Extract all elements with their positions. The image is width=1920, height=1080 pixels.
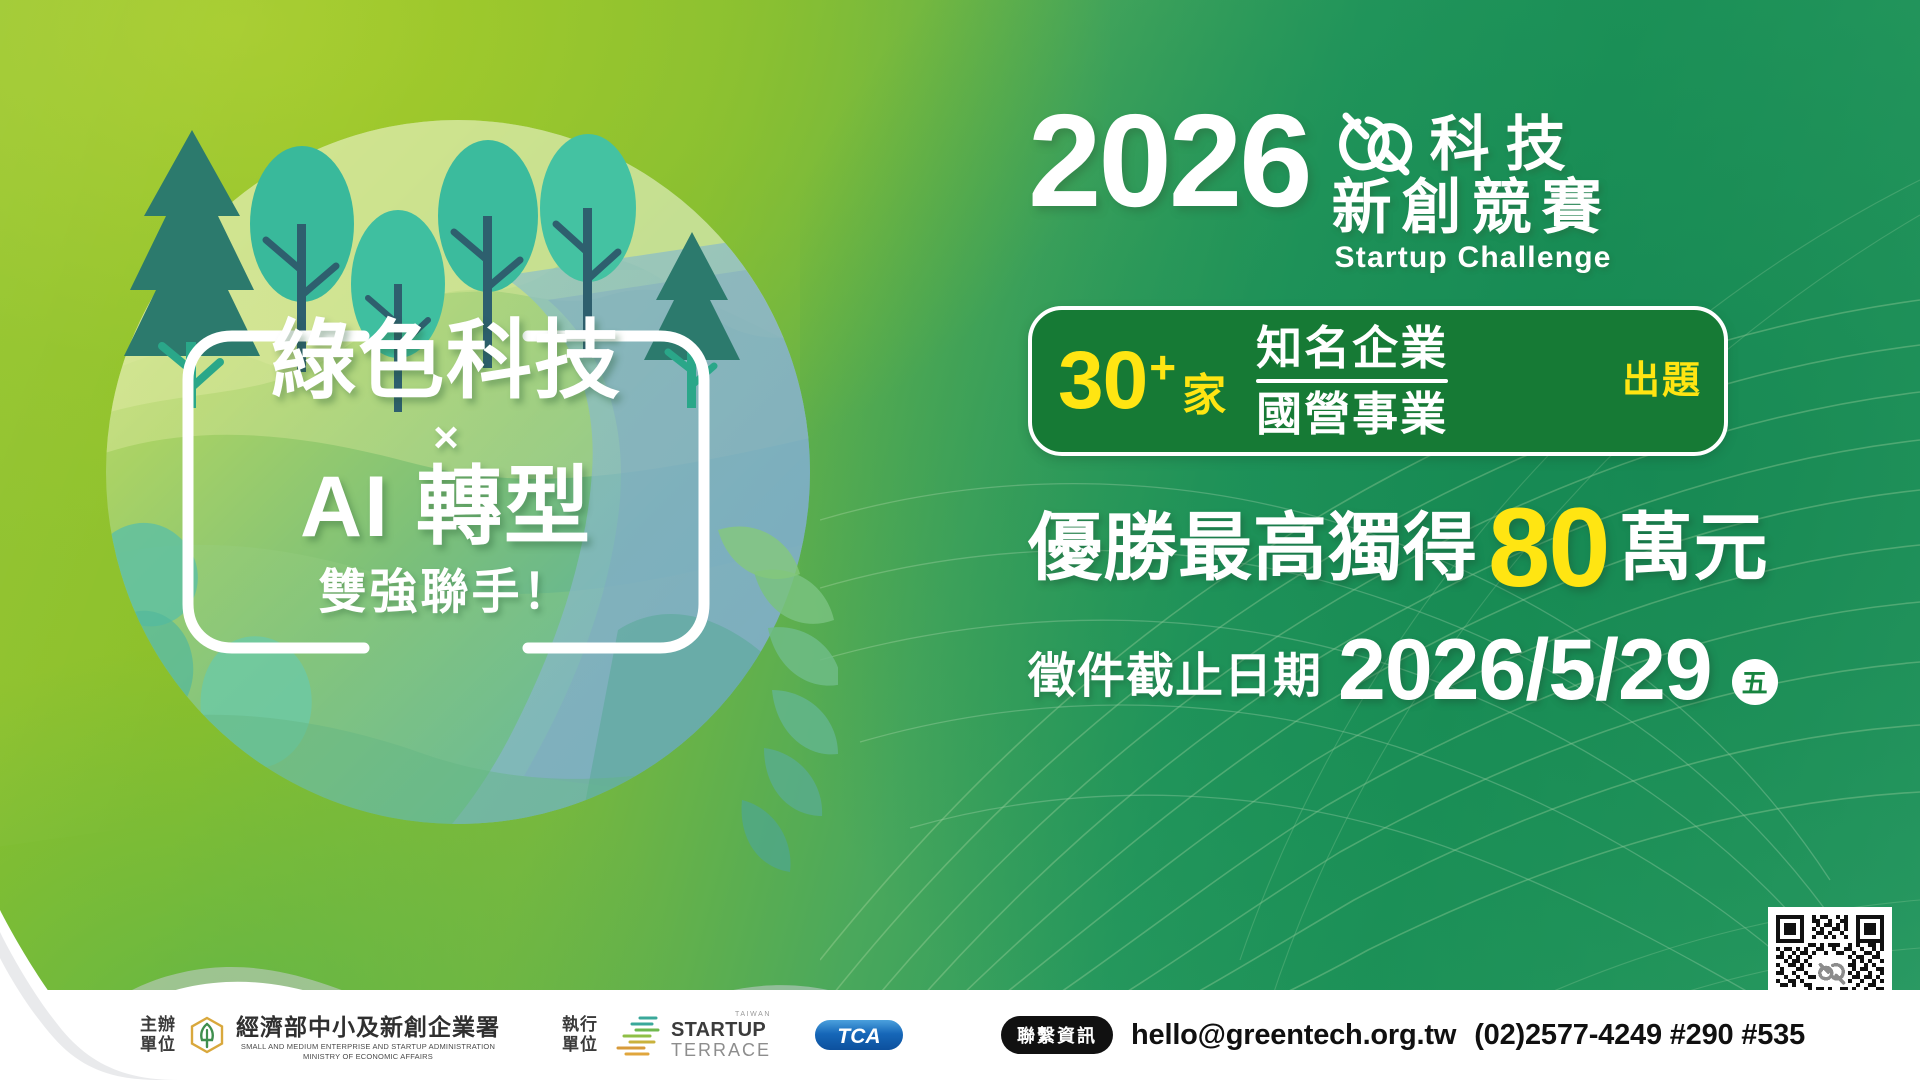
partner-suffix: 出題 bbox=[1604, 360, 1702, 403]
brand-line-2: 新創競賽 bbox=[1332, 176, 1612, 239]
contact-phone[interactable]: (02)2577-4249 #290 #535 bbox=[1474, 1019, 1805, 1052]
poster-canvas: 綠色科技 × AI 轉型 雙強聯手！ 2026 bbox=[0, 0, 1920, 1080]
partner-count-number: 30 bbox=[1058, 340, 1147, 422]
partner-type-1: 知名企業 bbox=[1256, 322, 1448, 374]
footer-bar: 主辦 單位 經濟部中小及新創企業署 SMALL AND MEDIUM ENTER… bbox=[0, 990, 1920, 1080]
brand-english: Startup Challenge bbox=[1332, 241, 1612, 275]
organizer-name-cn: 經濟部中小及新創企業署 bbox=[236, 1008, 500, 1042]
prize-prefix: 優勝最高獨得 bbox=[1028, 511, 1478, 585]
deadline-weekday: 五 bbox=[1732, 659, 1778, 705]
startup-terrace-bars-icon bbox=[610, 1014, 664, 1056]
brand-line-1: 科技 bbox=[1430, 113, 1582, 176]
executor-label-line1: 執行 bbox=[562, 1015, 598, 1035]
right-content-column: 2026 科技 新創競賽 Startup Challenge bbox=[1010, 0, 1920, 1080]
partner-count-plus: + bbox=[1149, 344, 1176, 390]
startup-terrace-line2: TERRACE bbox=[671, 1041, 771, 1059]
executor-group: 執行 單位 TAIWAN START bbox=[562, 1011, 771, 1059]
contact-email[interactable]: hello@greentech.org.tw bbox=[1131, 1019, 1456, 1052]
deadline-date: 2026/5/29 bbox=[1338, 630, 1712, 711]
partner-count: 30 + 家 bbox=[1058, 340, 1226, 422]
contact-group: 聯繫資訊 hello@greentech.org.tw (02)2577-424… bbox=[1001, 1016, 1805, 1054]
executor-label: 執行 單位 bbox=[562, 1015, 598, 1055]
partner-types: 知名企業 國營事業 bbox=[1256, 322, 1448, 441]
prize-line: 優勝最高獨得 80 萬元 bbox=[1028, 492, 1769, 604]
partner-type-2: 國營事業 bbox=[1256, 388, 1448, 440]
organizer-name-en-1: SMALL AND MEDIUM ENTERPRISE AND STARTUP … bbox=[236, 1042, 500, 1052]
startup-terrace-line1: STARTUP bbox=[671, 1020, 771, 1040]
year-label: 2026 bbox=[1028, 104, 1310, 218]
deadline-line: 徵件截止日期 2026/5/29 五 bbox=[1028, 630, 1778, 711]
contact-pill-label: 聯繫資訊 bbox=[1001, 1016, 1113, 1054]
organizer-name-en-2: MINISTRY OF ECONOMIC AFFAIRS bbox=[236, 1052, 500, 1062]
startup-terrace-taiwan: TAIWAN bbox=[735, 1011, 771, 1018]
executor-label-line2: 單位 bbox=[562, 1035, 598, 1055]
partner-divider bbox=[1256, 379, 1448, 383]
brand-lockup: 科技 新創競賽 Startup Challenge bbox=[1332, 104, 1612, 275]
deadline-label: 徵件截止日期 bbox=[1028, 653, 1322, 711]
footer-corner-curve bbox=[0, 910, 260, 1080]
tca-logo: TCA bbox=[813, 1017, 905, 1053]
partners-badge: 30 + 家 知名企業 國營事業 出題 bbox=[1028, 306, 1728, 456]
startup-terrace-logo: TAIWAN STARTUP TERRACE bbox=[610, 1011, 771, 1059]
tca-label: TCA bbox=[837, 1025, 880, 1048]
hero-line-2: AI 轉型 bbox=[300, 464, 592, 552]
hero-line-1: 綠色科技 bbox=[270, 318, 622, 406]
infinity-leaf-loop-icon bbox=[1332, 108, 1416, 180]
title-row: 2026 科技 新創競賽 Startup Challenge bbox=[1028, 104, 1612, 275]
hero-headline-block: 綠色科技 × AI 轉型 雙強聯手！ bbox=[168, 322, 724, 662]
hero-cross-symbol: × bbox=[433, 416, 459, 460]
prize-amount: 80 bbox=[1488, 496, 1609, 599]
hero-line-3: 雙強聯手！ bbox=[318, 567, 573, 620]
partner-count-unit: 家 bbox=[1182, 374, 1226, 418]
prize-suffix: 萬元 bbox=[1619, 511, 1769, 585]
